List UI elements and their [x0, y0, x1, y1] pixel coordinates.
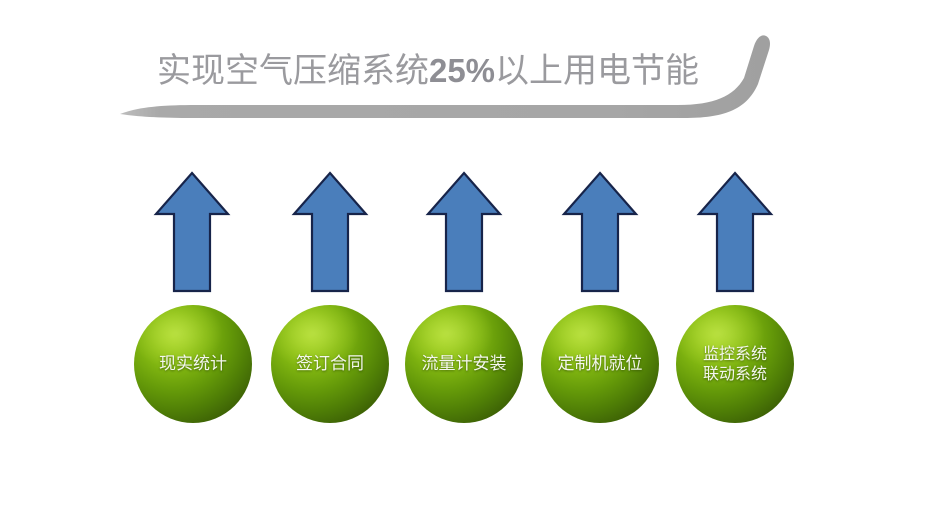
step-label-line: 联动系统: [703, 364, 767, 384]
arrow-up-icon: [696, 170, 774, 294]
step-node-5[interactable]: 监控系统 联动系统: [676, 305, 794, 423]
step-label-line: 流量计安装: [422, 354, 507, 375]
title-banner: 实现空气压缩系统25%以上用电节能: [118, 34, 778, 122]
title-suffix: 以上用电节能: [495, 51, 699, 91]
step-label-5: 监控系统 联动系统: [676, 305, 794, 423]
arrow-up-step-1[interactable]: [153, 170, 231, 294]
step-label-line: 定制机就位: [558, 354, 643, 375]
step-label-line: 签订合同: [296, 354, 364, 375]
arrow-up-icon: [153, 170, 231, 294]
step-label-1: 现实统计: [134, 305, 252, 423]
arrow-up-step-5[interactable]: [696, 170, 774, 294]
step-node-1[interactable]: 现实统计: [134, 305, 252, 423]
step-label-3: 流量计安装: [405, 305, 523, 423]
title-percent: 25%: [429, 52, 495, 89]
arrow-up-step-2[interactable]: [291, 170, 369, 294]
step-label-line: 监控系统: [703, 344, 767, 364]
arrow-up-icon: [291, 170, 369, 294]
step-node-4[interactable]: 定制机就位: [541, 305, 659, 423]
step-node-3[interactable]: 流量计安装: [405, 305, 523, 423]
page-title: 实现空气压缩系统25%以上用电节能: [118, 34, 738, 108]
title-prefix: 实现空气压缩系统: [157, 51, 429, 91]
arrow-up-icon: [561, 170, 639, 294]
slide-canvas: 实现空气压缩系统25%以上用电节能: [0, 0, 945, 529]
step-label-4: 定制机就位: [541, 305, 659, 423]
arrow-up-step-4[interactable]: [561, 170, 639, 294]
arrow-up-step-3[interactable]: [425, 170, 503, 294]
step-label-line: 现实统计: [159, 354, 227, 375]
step-label-2: 签订合同: [271, 305, 389, 423]
arrow-up-icon: [425, 170, 503, 294]
step-node-2[interactable]: 签订合同: [271, 305, 389, 423]
